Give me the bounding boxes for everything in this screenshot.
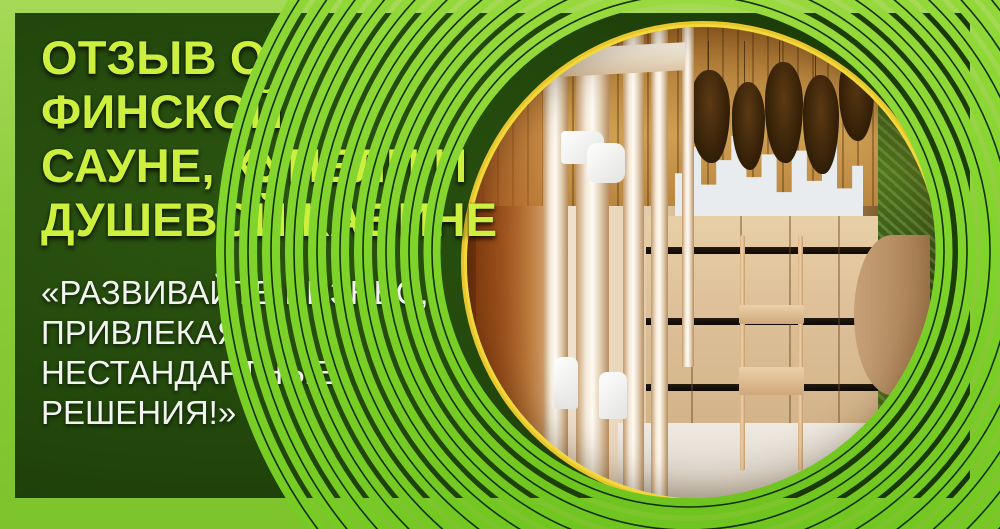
photo-shower-post xyxy=(682,27,694,367)
photo-broom-string xyxy=(815,41,816,78)
photo-broom xyxy=(803,75,839,174)
photo-broom xyxy=(690,70,730,163)
photo-ladder-rung xyxy=(739,305,804,324)
photo-ladder-rail xyxy=(740,235,745,471)
photo-shower-post xyxy=(543,27,569,498)
photo-broom-string xyxy=(744,41,745,85)
photo-wooden-tub xyxy=(854,235,930,395)
photo-shower-handle xyxy=(599,372,627,419)
photo-shower-post xyxy=(651,27,668,498)
banner-title: ОТЗЫВ О ФИНСКОЙ САУНЕ, КУПЕЛИ И ДУШЕВОЙ … xyxy=(41,31,511,247)
photo-broom xyxy=(839,56,875,141)
photo-shower-handle xyxy=(554,357,578,409)
photo-shower-post xyxy=(576,27,609,498)
photo-bath-brooms xyxy=(684,41,882,211)
banner-subtitle: «РАЗВИВАЙТЕ БИЗНЕС, ПРИВЛЕКАЯ НЕСТАНДАРТ… xyxy=(41,247,511,433)
photo-ladder-rung xyxy=(739,367,804,395)
photo-wall-seam xyxy=(838,216,840,438)
sauna-photo-circle xyxy=(467,27,939,498)
banner-panel: ОТЗЫВ О ФИНСКОЙ САУНЕ, КУПЕЛИ И ДУШЕВОЙ … xyxy=(15,13,970,498)
text-column: ОТЗЫВ О ФИНСКОЙ САУНЕ, КУПЕЛИ И ДУШЕВОЙ … xyxy=(41,31,511,433)
photo-shower-handle xyxy=(587,143,625,183)
photo-ladder xyxy=(736,235,807,471)
photo-ladder-rail xyxy=(798,235,803,471)
promo-banner: ОТЗЫВ О ФИНСКОЙ САУНЕ, КУПЕЛИ И ДУШЕВОЙ … xyxy=(0,0,1000,529)
sauna-photo xyxy=(467,27,939,498)
photo-shower-post xyxy=(623,27,644,498)
photo-broom xyxy=(732,82,766,170)
photo-broom xyxy=(765,62,803,164)
